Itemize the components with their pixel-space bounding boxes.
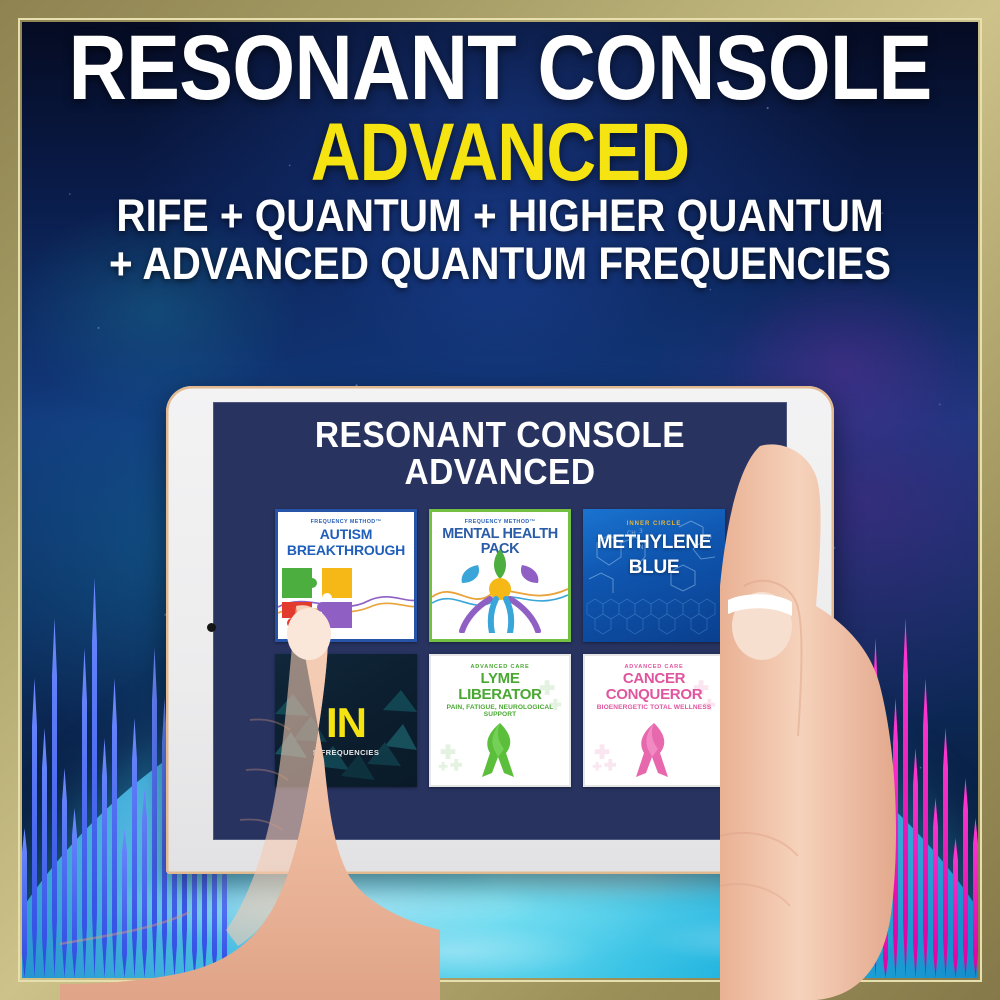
- tile-mental-health-pack[interactable]: FREQUENCY METHOD™ MENTAL HEALTH PACK: [429, 509, 571, 642]
- svg-text:3: 3: [639, 528, 643, 535]
- tile-lyme-liberator[interactable]: ADVANCED CARE LYME LIBERATOR PAIN, FATIG…: [429, 654, 571, 787]
- tile-methylene-blue[interactable]: CH3 N CH3 CH INNER CIRCLE METHYLENE BLUE: [583, 509, 725, 642]
- screen-title-line-1: RESONANT CONSOLE: [233, 416, 767, 453]
- subtitle-line-2: + ADVANCED QUANTUM FREQUENCIES: [50, 240, 950, 288]
- page-title: RESONANT CONSOLE: [60, 24, 940, 112]
- awareness-ribbon-icon: [626, 719, 682, 781]
- brand-label: FREQUENCY METHOD™: [432, 519, 568, 525]
- index-finger-nail: [287, 608, 331, 660]
- hand-holding-tablet: [720, 436, 1000, 1000]
- brand-label: FREQUENCY METHOD™: [278, 519, 414, 525]
- svg-text:CH: CH: [631, 566, 640, 573]
- tile-cancer-conqueror[interactable]: ADVANCED CARE CANCER CONQUEROR BIOENERGE…: [583, 654, 725, 787]
- tile-title-line-1: AUTISM: [278, 527, 414, 541]
- svg-text:CH: CH: [703, 534, 712, 541]
- headline-block: RESONANT CONSOLE ADVANCED RIFE + QUANTUM…: [0, 24, 1000, 288]
- awareness-ribbon-icon: [472, 719, 528, 781]
- screen-title: RESONANT CONSOLE ADVANCED: [233, 402, 767, 491]
- svg-text:CH: CH: [627, 530, 636, 537]
- hand-pointing: [60, 600, 440, 1000]
- person-leaves-icon: [432, 541, 568, 633]
- tile-title-line-2: BREAKTHROUGH: [278, 543, 414, 557]
- svg-text:N: N: [639, 544, 644, 551]
- subtitle-line-1: RIFE + QUANTUM + HIGHER QUANTUM: [50, 192, 950, 240]
- title-advanced: ADVANCED: [80, 114, 920, 192]
- promotional-poster: RESONANT CONSOLE ADVANCED RIFE + QUANTUM…: [0, 0, 1000, 1000]
- screen-title-line-2: ADVANCED: [233, 453, 767, 490]
- hex-grid-pattern: [583, 584, 725, 642]
- svg-text:3: 3: [643, 564, 647, 571]
